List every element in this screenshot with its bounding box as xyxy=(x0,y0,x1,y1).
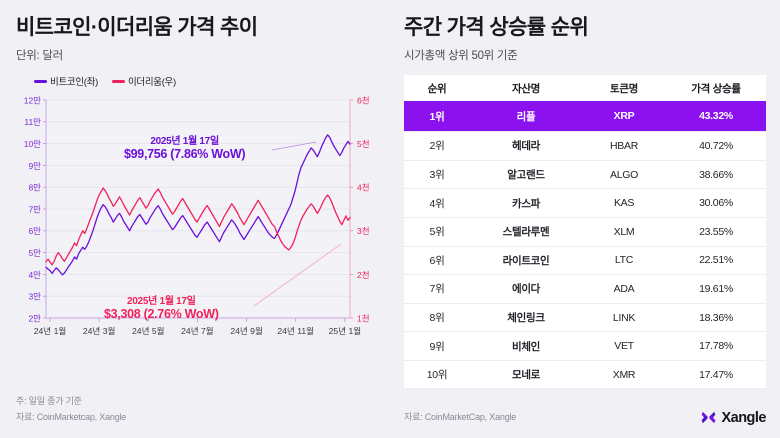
column-header-token: 토큰명 xyxy=(582,81,666,96)
cell-rank: 4위 xyxy=(404,196,470,211)
cell-rank: 6위 xyxy=(404,253,470,268)
svg-text:8만: 8만 xyxy=(28,183,41,193)
svg-text:4만: 4만 xyxy=(28,270,41,280)
annotation-eth-date: 2025년 1월 17일 xyxy=(104,292,219,307)
svg-text:9만: 9만 xyxy=(28,161,41,171)
cell-asset: 라이트코인 xyxy=(470,253,582,268)
chart-subtitle: 단위: 달러 xyxy=(16,47,378,63)
svg-text:3천: 3천 xyxy=(357,226,370,236)
cell-token: KAS xyxy=(582,197,666,209)
table-row[interactable]: 1위리플XRP43.32% xyxy=(404,101,766,131)
cell-asset: 비체인 xyxy=(470,339,582,354)
chart-panel: 비트코인·이더리움 가격 추이 단위: 달러 비트코인(좌) 이더리움(우) 2… xyxy=(0,0,390,438)
cell-token: VET xyxy=(582,340,666,352)
svg-text:7만: 7만 xyxy=(28,205,41,215)
annotation-btc-date: 2025년 1월 17일 xyxy=(124,132,245,147)
svg-text:24년 1월: 24년 1월 xyxy=(34,325,67,336)
cell-pct: 17.47% xyxy=(666,369,766,381)
xangle-wordmark: Xangle xyxy=(721,410,766,426)
svg-text:5만: 5만 xyxy=(28,248,41,258)
svg-text:2만: 2만 xyxy=(28,314,41,324)
cell-token: ALGO xyxy=(582,169,666,181)
cell-rank: 3위 xyxy=(404,167,470,182)
svg-text:12만: 12만 xyxy=(24,96,41,106)
price-line-chart: 2만3만4만5만6만7만8만9만10만11만12만1천2천3천4천5천6천24년… xyxy=(16,94,384,352)
cell-token: XRP xyxy=(582,110,666,122)
table-header-row: 순위 자산명 토큰명 가격 상승률 xyxy=(404,75,766,101)
chart-source: 자료: CoinMarketcap, Xangle xyxy=(16,409,126,426)
table-row[interactable]: 9위비체인VET17.78% xyxy=(404,331,766,360)
cell-pct: 18.36% xyxy=(666,312,766,324)
cell-token: XMR xyxy=(582,369,666,381)
ranking-panel: 주간 가격 상승률 순위 시가총액 상위 50위 기준 순위 자산명 토큰명 가… xyxy=(390,0,780,438)
table-row[interactable]: 8위체인링크LINK18.36% xyxy=(404,303,766,332)
svg-text:24년 9월: 24년 9월 xyxy=(230,325,263,336)
svg-text:11만: 11만 xyxy=(24,117,41,127)
table-row[interactable]: 2위헤데라HBAR40.72% xyxy=(404,131,766,160)
annotation-eth-value: $3,308 (2.76% WoW) xyxy=(104,307,219,321)
legend-label-btc: 비트코인(좌) xyxy=(50,74,98,88)
table-row[interactable]: 4위카스파KAS30.06% xyxy=(404,188,766,217)
cell-pct: 22.51% xyxy=(666,254,766,266)
legend-swatch-eth xyxy=(112,80,125,83)
cell-pct: 38.66% xyxy=(666,169,766,181)
chart-footnotes: 주: 일일 종가 기준 자료: CoinMarketcap, Xangle xyxy=(16,393,126,426)
legend-item-btc: 비트코인(좌) xyxy=(34,74,98,88)
cell-asset: 스텔라루멘 xyxy=(470,224,582,239)
legend-item-eth: 이더리움(우) xyxy=(112,74,176,88)
cell-pct: 30.06% xyxy=(666,197,766,209)
infographic-page: 비트코인·이더리움 가격 추이 단위: 달러 비트코인(좌) 이더리움(우) 2… xyxy=(0,0,780,438)
annotation-btc-value: $99,756 (7.86% WoW) xyxy=(124,147,245,161)
svg-text:24년 3월: 24년 3월 xyxy=(83,325,116,336)
cell-rank: 5위 xyxy=(404,224,470,239)
svg-text:24년 11월: 24년 11월 xyxy=(277,325,314,336)
table-row[interactable]: 6위라이트코인LTC22.51% xyxy=(404,246,766,275)
cell-rank: 8위 xyxy=(404,310,470,325)
cell-token: LINK xyxy=(582,312,666,324)
cell-pct: 43.32% xyxy=(666,110,766,122)
cell-asset: 에이다 xyxy=(470,281,582,296)
ranking-title: 주간 가격 상승률 순위 xyxy=(404,16,766,40)
cell-rank: 2위 xyxy=(404,138,470,153)
cell-asset: 카스파 xyxy=(470,196,582,211)
cell-asset: 체인링크 xyxy=(470,310,582,325)
ranking-table: 순위 자산명 토큰명 가격 상승률 1위리플XRP43.32%2위헤데라HBAR… xyxy=(404,75,766,388)
cell-rank: 1위 xyxy=(404,109,470,124)
svg-text:6천: 6천 xyxy=(357,96,370,106)
cell-rank: 10위 xyxy=(404,367,470,382)
cell-asset: 알고랜드 xyxy=(470,167,582,182)
annotation-eth: 2025년 1월 17일 $3,308 (2.76% WoW) xyxy=(104,292,219,321)
cell-token: XLM xyxy=(582,226,666,238)
svg-text:25년 1월: 25년 1월 xyxy=(329,325,362,336)
legend-swatch-btc xyxy=(34,80,47,83)
table-row[interactable]: 5위스텔라루멘XLM23.55% xyxy=(404,217,766,246)
cell-pct: 19.61% xyxy=(666,283,766,295)
chart-title: 비트코인·이더리움 가격 추이 xyxy=(16,16,378,40)
cell-pct: 40.72% xyxy=(666,140,766,152)
cell-pct: 17.78% xyxy=(666,340,766,352)
annotation-btc: 2025년 1월 17일 $99,756 (7.86% WoW) xyxy=(124,132,245,161)
cell-token: ADA xyxy=(582,283,666,295)
svg-text:6만: 6만 xyxy=(28,226,41,236)
svg-text:24년 5월: 24년 5월 xyxy=(132,325,165,336)
table-row[interactable]: 10위모네로XMR17.47% xyxy=(404,360,766,389)
svg-text:4천: 4천 xyxy=(357,183,370,193)
column-header-asset: 자산명 xyxy=(470,81,582,96)
chart-legend: 비트코인(좌) 이더리움(우) xyxy=(16,74,378,88)
legend-label-eth: 이더리움(우) xyxy=(128,74,176,88)
cell-asset: 모네로 xyxy=(470,367,582,382)
cell-pct: 23.55% xyxy=(666,226,766,238)
cell-rank: 7위 xyxy=(404,281,470,296)
svg-text:24년 7월: 24년 7월 xyxy=(181,325,214,336)
svg-text:2천: 2천 xyxy=(357,270,370,280)
cell-token: LTC xyxy=(582,254,666,266)
table-row[interactable]: 7위에이다ADA19.61% xyxy=(404,274,766,303)
ranking-source: 자료: CoinMarketCap, Xangle xyxy=(404,409,516,426)
svg-text:10만: 10만 xyxy=(24,139,41,149)
column-header-rank: 순위 xyxy=(404,81,470,96)
cell-asset: 헤데라 xyxy=(470,138,582,153)
cell-asset: 리플 xyxy=(470,109,582,124)
table-bottom-divider xyxy=(404,388,766,389)
table-row[interactable]: 3위알고랜드ALGO38.66% xyxy=(404,160,766,189)
svg-text:5천: 5천 xyxy=(357,139,370,149)
column-header-pct: 가격 상승률 xyxy=(666,81,766,96)
xangle-logo: Xangle xyxy=(701,410,766,426)
chart-note: 주: 일일 종가 기준 xyxy=(16,393,126,410)
cell-token: HBAR xyxy=(582,140,666,152)
cell-rank: 9위 xyxy=(404,339,470,354)
ranking-footer: 자료: CoinMarketCap, Xangle Xangle xyxy=(404,409,766,426)
xangle-mark-icon xyxy=(701,410,716,425)
svg-text:1천: 1천 xyxy=(357,314,370,324)
ranking-subtitle: 시가총액 상위 50위 기준 xyxy=(404,47,766,63)
svg-text:3만: 3만 xyxy=(28,292,41,302)
